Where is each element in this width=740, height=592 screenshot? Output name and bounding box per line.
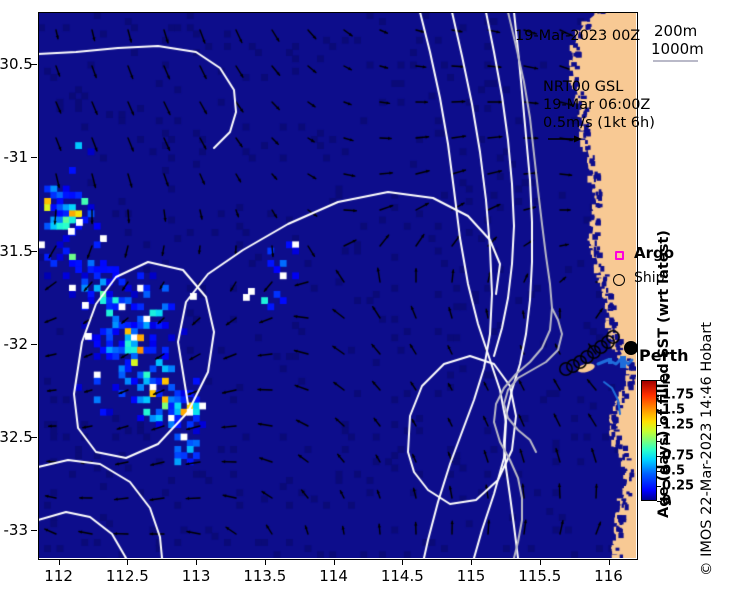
perth-city-marker-icon [624, 341, 638, 355]
x-tick-label: 116 [594, 567, 623, 585]
x-tick-label: 114.5 [381, 567, 424, 585]
y-tick [31, 344, 37, 345]
x-tick-label: 113.5 [243, 567, 286, 585]
y-tick-label: -31 [0, 148, 28, 166]
argo-marker-icon [615, 251, 624, 260]
x-tick [402, 559, 403, 565]
depth-legend-rule [653, 60, 698, 62]
y-tick-label: -30.5 [0, 55, 28, 73]
x-tick [471, 559, 472, 565]
current-source: NRT00 GSL [543, 78, 655, 96]
y-tick-label: -32.5 [0, 428, 28, 446]
y-tick [31, 530, 37, 531]
x-tick [59, 559, 60, 565]
x-tick [196, 559, 197, 565]
ship-marker-icon [613, 274, 625, 286]
colorbar-title: Age (days) of filled SST (wrt latest) [656, 230, 672, 518]
x-tick-label: 112 [44, 567, 73, 585]
depth-legend-200m: 200m [654, 22, 697, 40]
x-tick-label: 114 [319, 567, 348, 585]
y-tick-label: -31.5 [0, 242, 28, 260]
x-tick [609, 559, 610, 565]
y-tick-label: -33 [0, 521, 28, 539]
colorbar [641, 380, 657, 501]
x-tick [540, 559, 541, 565]
credit-text: © IMOS 22-Mar-2023 14:46 Hobart [699, 322, 715, 576]
x-tick-label: 113 [182, 567, 211, 585]
current-legend: NRT00 GSL 19-Mar 06:00Z 0.5m/s (1kt 6h) [543, 78, 655, 132]
date-stamp: 19-Mar-2023 00Z [515, 28, 640, 44]
x-tick-label: 112.5 [106, 567, 149, 585]
x-tick-label: 115 [457, 567, 486, 585]
x-tick [127, 559, 128, 565]
y-tick [31, 157, 37, 158]
x-tick-label: 115.5 [518, 567, 561, 585]
x-tick [334, 559, 335, 565]
current-valid-time: 19-Mar 06:00Z [543, 96, 655, 114]
depth-legend-1000m: 1000m [651, 40, 704, 58]
x-tick [265, 559, 266, 565]
current-scale: 0.5m/s (1kt 6h) [543, 114, 655, 132]
map-figure: 19-Mar-2023 00Z 200m 1000m NRT00 GSL 19-… [0, 0, 740, 592]
reference-arrow-icon [548, 134, 582, 144]
y-tick-label: -32 [0, 335, 28, 353]
